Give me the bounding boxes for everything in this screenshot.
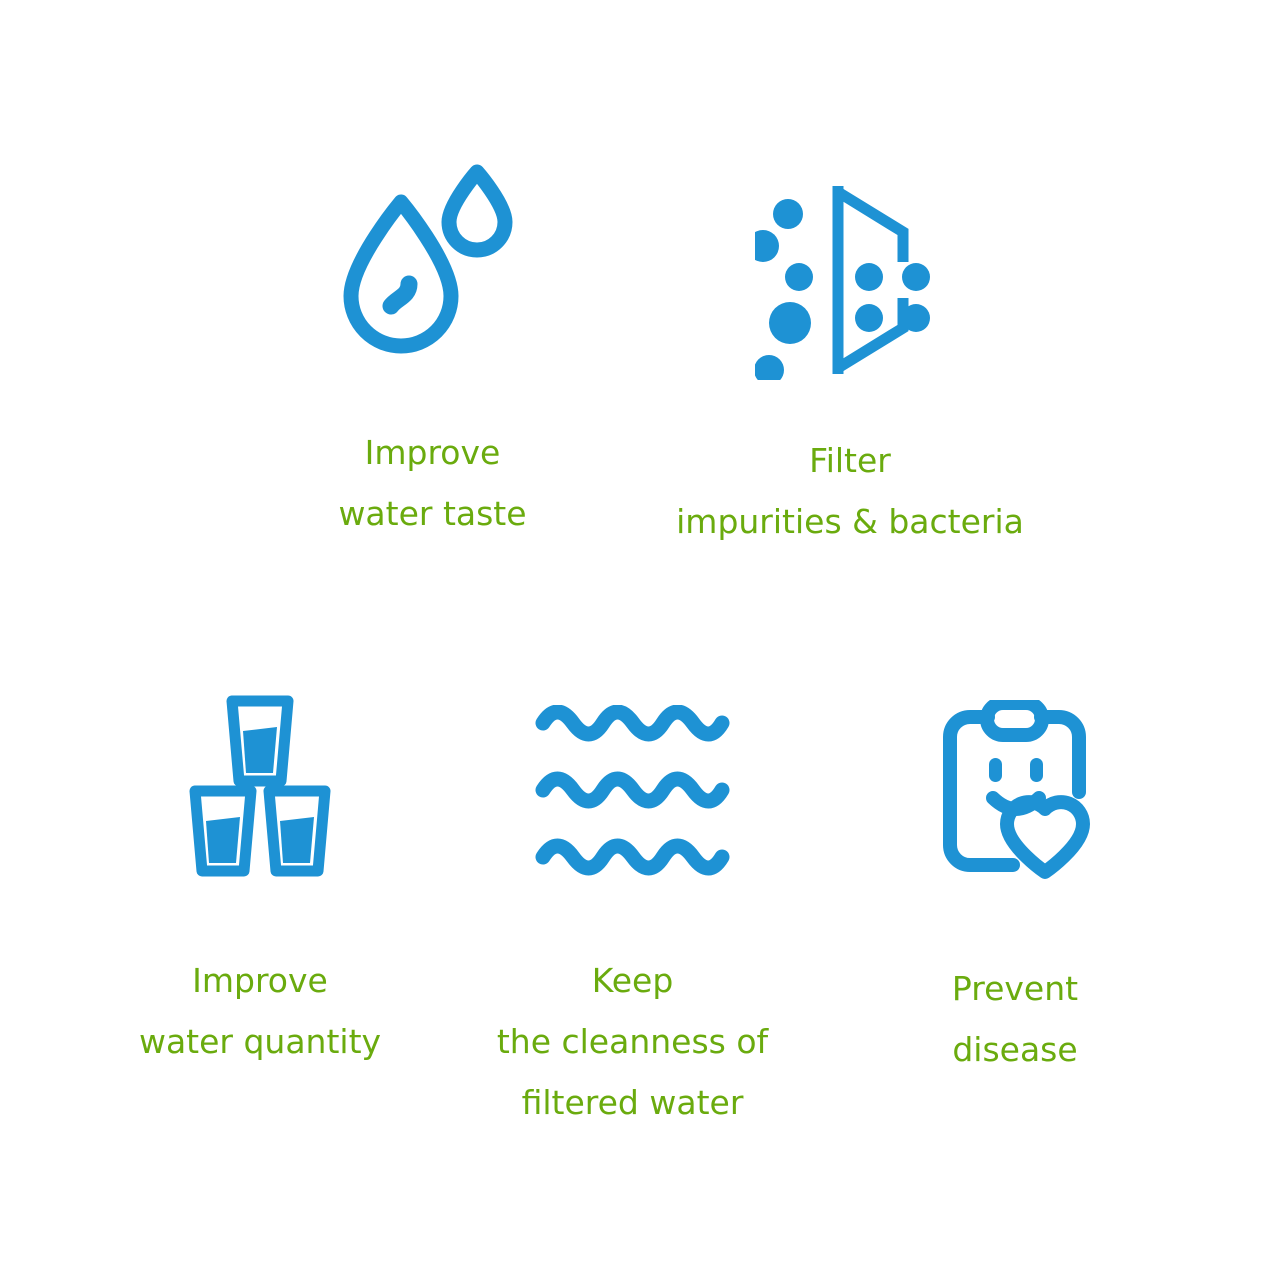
water-filter-icon-wrap: [755, 140, 945, 380]
caption-line: impurities & bacteria: [676, 491, 1024, 552]
health-clipboard-heart-icon-wrap: [935, 670, 1095, 880]
caption-line: Keep: [497, 950, 768, 1011]
water-waves-icon-wrap: [535, 670, 730, 880]
caption-line: Prevent: [952, 958, 1078, 1019]
feature-caption: Improve water quantity: [139, 950, 381, 1072]
water-drops-icon-wrap: [333, 150, 533, 380]
health-clipboard-heart-icon: [935, 700, 1095, 880]
feature-prevent-disease: Prevent disease: [840, 670, 1190, 1080]
benefits-infographic: Improve water taste: [0, 0, 1280, 1280]
stacked-water-glasses-icon: [185, 695, 335, 880]
water-waves-icon: [535, 705, 730, 880]
feature-caption: Improve water taste: [338, 422, 526, 544]
stacked-water-glasses-icon-wrap: [185, 670, 335, 880]
feature-keep-cleanness: Keep the cleanness of filtered water: [460, 670, 805, 1133]
caption-line: the cleanness of: [497, 1011, 768, 1072]
caption-line: Improve: [139, 950, 381, 1011]
caption-line: Improve: [338, 422, 526, 483]
feature-caption: Keep the cleanness of filtered water: [497, 950, 768, 1133]
caption-line: filtered water: [497, 1072, 768, 1133]
water-drops-icon: [333, 160, 533, 380]
caption-line: disease: [952, 1019, 1078, 1080]
feature-improve-water-taste: Improve water taste: [255, 150, 610, 544]
caption-line: water quantity: [139, 1011, 381, 1072]
feature-improve-water-quantity: Improve water quantity: [95, 670, 425, 1072]
feature-caption: Filter impurities & bacteria: [676, 430, 1024, 552]
feature-filter-impurities: Filter impurities & bacteria: [670, 140, 1030, 552]
caption-line: water taste: [338, 483, 526, 544]
water-filter-icon: [755, 180, 945, 380]
caption-line: Filter: [676, 430, 1024, 491]
feature-caption: Prevent disease: [952, 958, 1078, 1080]
